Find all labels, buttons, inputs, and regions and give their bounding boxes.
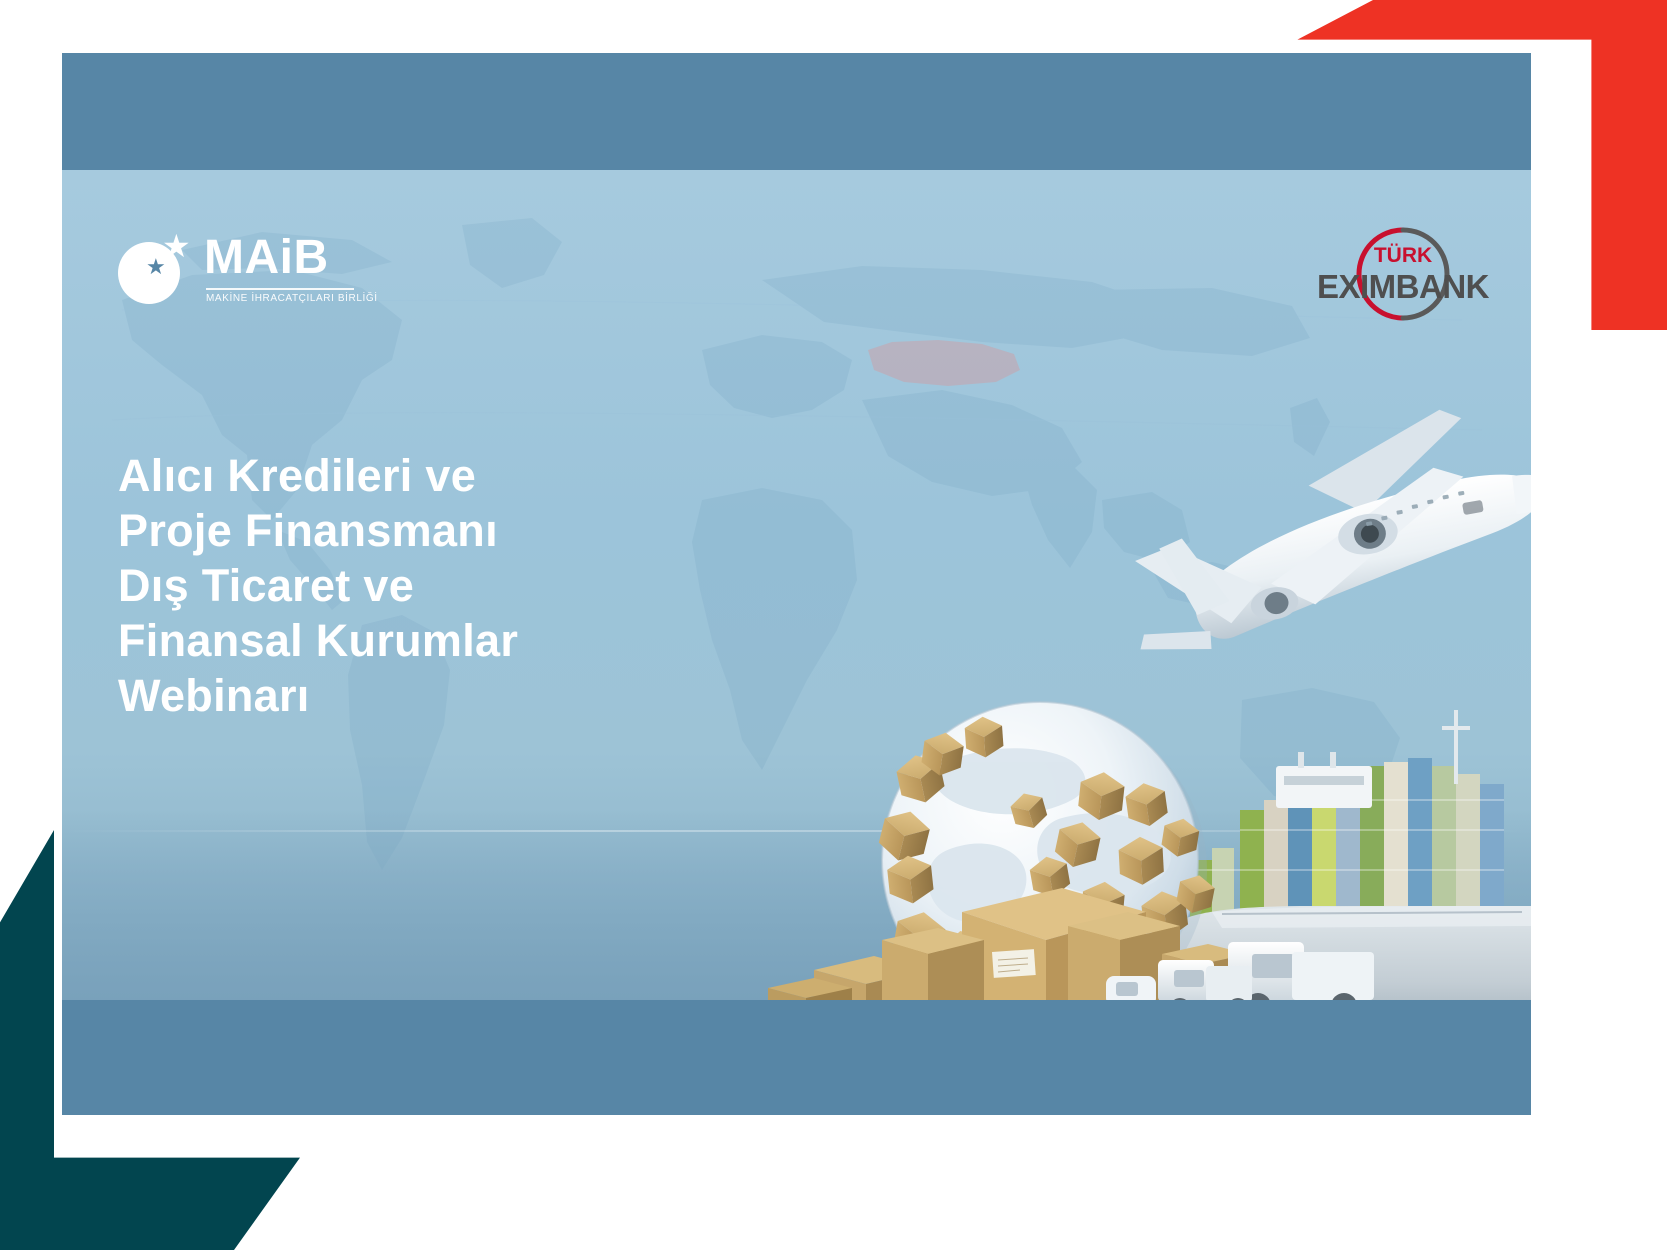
title-line-1: Alıcı Kredileri ve: [118, 448, 678, 503]
title-line-5: Webinarı: [118, 668, 678, 723]
maib-star-small-icon: ★: [146, 256, 166, 278]
maib-tagline: MAKİNE İHRACATÇILARI BİRLİĞİ: [206, 293, 378, 304]
maib-divider: [206, 288, 354, 290]
page-title: Alıcı Kredileri ve Proje Finansmanı Dış …: [118, 448, 678, 723]
slide-root: ★ ★ MAiB MAKİNE İHRACATÇILARI BİRLİĞİ TÜ…: [0, 0, 1667, 1250]
title-line-3: Dış Ticaret ve: [118, 558, 678, 613]
eximbank-logo: TÜRK EXIMBANK: [1310, 222, 1496, 330]
maib-mark-icon: ★ ★: [118, 230, 192, 304]
maib-wordmark: MAiB: [204, 234, 329, 282]
eximbank-name-text: EXIMBANK: [1317, 268, 1490, 305]
title-line-2: Proje Finansmanı: [118, 503, 678, 558]
title-line-4: Finansal Kurumlar: [118, 613, 678, 668]
cargo-airplane-shape: [1109, 393, 1531, 661]
eximbank-turk-text: TÜRK: [1374, 244, 1432, 267]
maib-logo: ★ ★ MAiB MAKİNE İHRACATÇILARI BİRLİĞİ: [118, 220, 358, 315]
maib-star-large-icon: ★: [162, 230, 191, 262]
